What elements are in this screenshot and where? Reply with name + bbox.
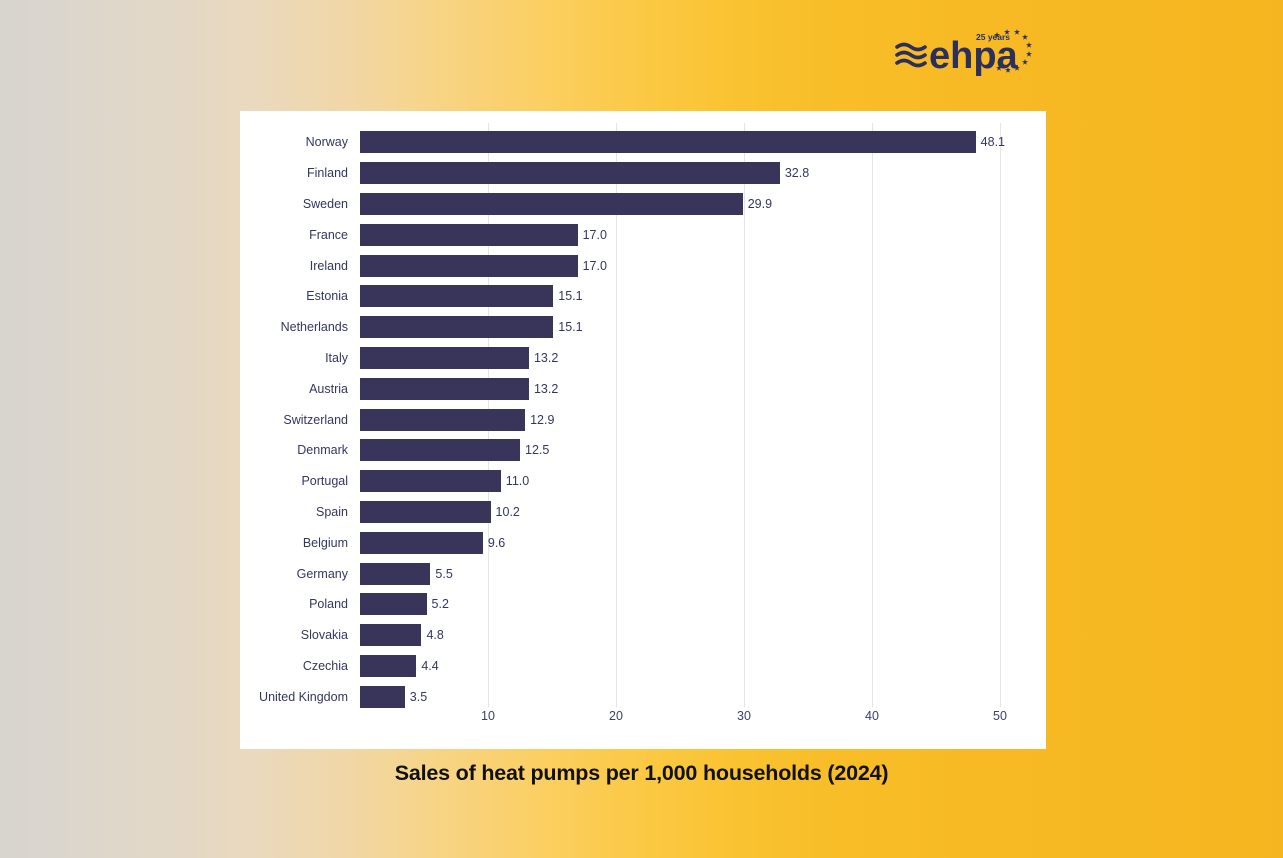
x-tick-50: 50	[980, 709, 1020, 723]
category-label: Spain	[240, 505, 348, 519]
slide-canvas: ehpa 25 years Norway48.1Finland32.8Swede…	[0, 0, 1283, 858]
bar-row[interactable]: Portugal11.0	[240, 466, 1046, 497]
bar[interactable]	[360, 563, 430, 585]
bar[interactable]	[360, 593, 427, 615]
bar-value-label: 12.9	[530, 413, 554, 427]
category-label: Finland	[240, 166, 348, 180]
bar-value-label: 48.1	[981, 135, 1005, 149]
ehpa-logo: ehpa 25 years	[893, 18, 1038, 78]
bar-value-label: 15.1	[558, 289, 582, 303]
bar-container: 13.2	[360, 373, 558, 404]
bar-value-label: 29.9	[748, 197, 772, 211]
category-label: Norway	[240, 135, 348, 149]
bar-value-label: 4.8	[426, 628, 443, 642]
bar-row[interactable]: Sweden29.9	[240, 189, 1046, 220]
bar-value-label: 5.5	[435, 567, 452, 581]
bar-row[interactable]: Poland5.2	[240, 589, 1046, 620]
bar-row[interactable]: Austria13.2	[240, 373, 1046, 404]
bar[interactable]	[360, 655, 416, 677]
bar-row[interactable]: France17.0	[240, 219, 1046, 250]
bar-rows: Norway48.1Finland32.8Sweden29.9France17.…	[240, 127, 1046, 712]
bar-container: 15.1	[360, 281, 583, 312]
bar-row[interactable]: Denmark12.5	[240, 435, 1046, 466]
bar-value-label: 10.2	[496, 505, 520, 519]
bar-container: 13.2	[360, 343, 558, 374]
bar-container: 48.1	[360, 127, 1005, 158]
bar-container: 9.6	[360, 527, 505, 558]
bar-container: 12.9	[360, 404, 554, 435]
bar-row[interactable]: Switzerland12.9	[240, 404, 1046, 435]
bar[interactable]	[360, 131, 976, 153]
bar[interactable]	[360, 255, 578, 277]
bar-row[interactable]: Czechia4.4	[240, 651, 1046, 682]
bar-row[interactable]: Norway48.1	[240, 127, 1046, 158]
bar-value-label: 4.4	[421, 659, 438, 673]
bar-row[interactable]: Netherlands15.1	[240, 312, 1046, 343]
category-label: Italy	[240, 351, 348, 365]
bar-value-label: 17.0	[583, 228, 607, 242]
plot-area: Norway48.1Finland32.8Sweden29.9France17.…	[240, 111, 1046, 749]
category-label: Sweden	[240, 197, 348, 211]
bar[interactable]	[360, 347, 529, 369]
category-label: Estonia	[240, 289, 348, 303]
bar-value-label: 32.8	[785, 166, 809, 180]
bar[interactable]	[360, 409, 525, 431]
bar-container: 3.5	[360, 681, 427, 712]
category-label: Netherlands	[240, 320, 348, 334]
bar[interactable]	[360, 193, 743, 215]
bar-container: 29.9	[360, 189, 772, 220]
chart-panel: Norway48.1Finland32.8Sweden29.9France17.…	[240, 111, 1046, 749]
x-tick-10: 10	[468, 709, 508, 723]
bar-row[interactable]: Estonia15.1	[240, 281, 1046, 312]
bar-container: 17.0	[360, 219, 607, 250]
bar-value-label: 13.2	[534, 382, 558, 396]
category-label: Switzerland	[240, 413, 348, 427]
category-label: Ireland	[240, 259, 348, 273]
category-label: United Kingdom	[240, 690, 348, 704]
bar-row[interactable]: Germany5.5	[240, 558, 1046, 589]
bar-container: 5.5	[360, 558, 453, 589]
x-tick-30: 30	[724, 709, 764, 723]
bar[interactable]	[360, 686, 405, 708]
bar-value-label: 3.5	[410, 690, 427, 704]
bar-value-label: 17.0	[583, 259, 607, 273]
bar[interactable]	[360, 378, 529, 400]
bar-value-label: 9.6	[488, 536, 505, 550]
category-label: Denmark	[240, 443, 348, 457]
bar[interactable]	[360, 439, 520, 461]
bar-container: 11.0	[360, 466, 529, 497]
bar-row[interactable]: Slovakia4.8	[240, 620, 1046, 651]
bar-container: 17.0	[360, 250, 607, 281]
ehpa-logo-svg: ehpa 25 years	[893, 18, 1038, 78]
bar[interactable]	[360, 470, 501, 492]
bar-row[interactable]: United Kingdom3.5	[240, 681, 1046, 712]
bar-row[interactable]: Belgium9.6	[240, 527, 1046, 558]
category-label: Portugal	[240, 474, 348, 488]
logo-anniversary: 25 years	[976, 32, 1010, 42]
category-label: Germany	[240, 567, 348, 581]
bar-row[interactable]: Italy13.2	[240, 343, 1046, 374]
waves-icon	[897, 45, 925, 66]
chart-caption: Sales of heat pumps per 1,000 households…	[0, 761, 1283, 786]
bar-value-label: 15.1	[558, 320, 582, 334]
bar-value-label: 11.0	[506, 474, 529, 488]
bar-value-label: 13.2	[534, 351, 558, 365]
x-tick-40: 40	[852, 709, 892, 723]
bar[interactable]	[360, 285, 553, 307]
bar-container: 12.5	[360, 435, 549, 466]
bar-container: 15.1	[360, 312, 583, 343]
category-label: Czechia	[240, 659, 348, 673]
category-label: Belgium	[240, 536, 348, 550]
bar-row[interactable]: Finland32.8	[240, 158, 1046, 189]
bar[interactable]	[360, 224, 578, 246]
bar[interactable]	[360, 624, 421, 646]
bar-container: 4.8	[360, 620, 444, 651]
bar[interactable]	[360, 501, 491, 523]
x-tick-20: 20	[596, 709, 636, 723]
bar[interactable]	[360, 162, 780, 184]
bar-row[interactable]: Spain10.2	[240, 497, 1046, 528]
category-label: Austria	[240, 382, 348, 396]
bar-value-label: 5.2	[432, 597, 449, 611]
bar-value-label: 12.5	[525, 443, 549, 457]
bar-container: 10.2	[360, 497, 520, 528]
category-label: Poland	[240, 597, 348, 611]
bar[interactable]	[360, 316, 553, 338]
bar-container: 5.2	[360, 589, 449, 620]
bar[interactable]	[360, 532, 483, 554]
bar-container: 4.4	[360, 651, 439, 682]
category-label: Slovakia	[240, 628, 348, 642]
bar-row[interactable]: Ireland17.0	[240, 250, 1046, 281]
category-label: France	[240, 228, 348, 242]
bar-container: 32.8	[360, 158, 809, 189]
